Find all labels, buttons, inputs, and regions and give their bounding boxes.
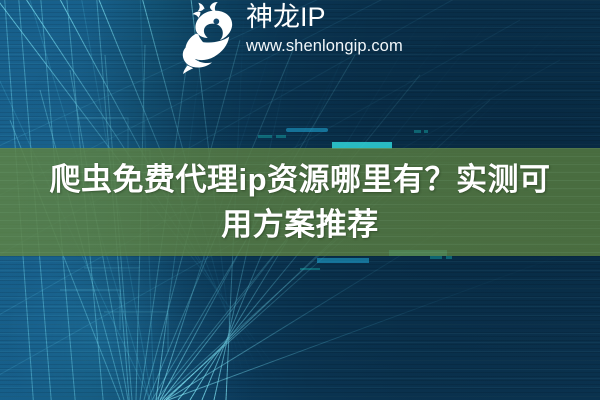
cyan-glitch-block <box>286 128 328 132</box>
cyan-glitch-block <box>317 258 369 263</box>
cyan-glitch-block <box>258 135 272 138</box>
title-line-1: 爬虫免费代理ip资源哪里有？实测可 <box>49 157 550 202</box>
cyan-glitch-block <box>414 130 421 133</box>
promo-banner: 神龙IP www.shenlongip.com 爬虫免费代理ip资源哪里有？实测… <box>0 0 600 400</box>
page-title: 爬虫免费代理ip资源哪里有？实测可 用方案推荐 <box>0 148 600 256</box>
brand-website: www.shenlongip.com <box>246 35 403 57</box>
brand-logo: 神龙IP www.shenlongip.com <box>176 2 426 74</box>
cyan-glitch-block <box>300 268 320 270</box>
brand-name-cn: 神龙IP <box>246 2 403 32</box>
brand-logo-text: 神龙IP www.shenlongip.com <box>246 2 403 57</box>
title-line-2: 用方案推荐 <box>221 202 379 247</box>
cyan-glitch-block <box>446 256 452 259</box>
cyan-glitch-block <box>424 130 428 133</box>
shenlong-dragon-logo-icon <box>176 2 248 74</box>
cyan-glitch-block <box>276 135 286 138</box>
cyan-glitch-block <box>430 256 442 259</box>
